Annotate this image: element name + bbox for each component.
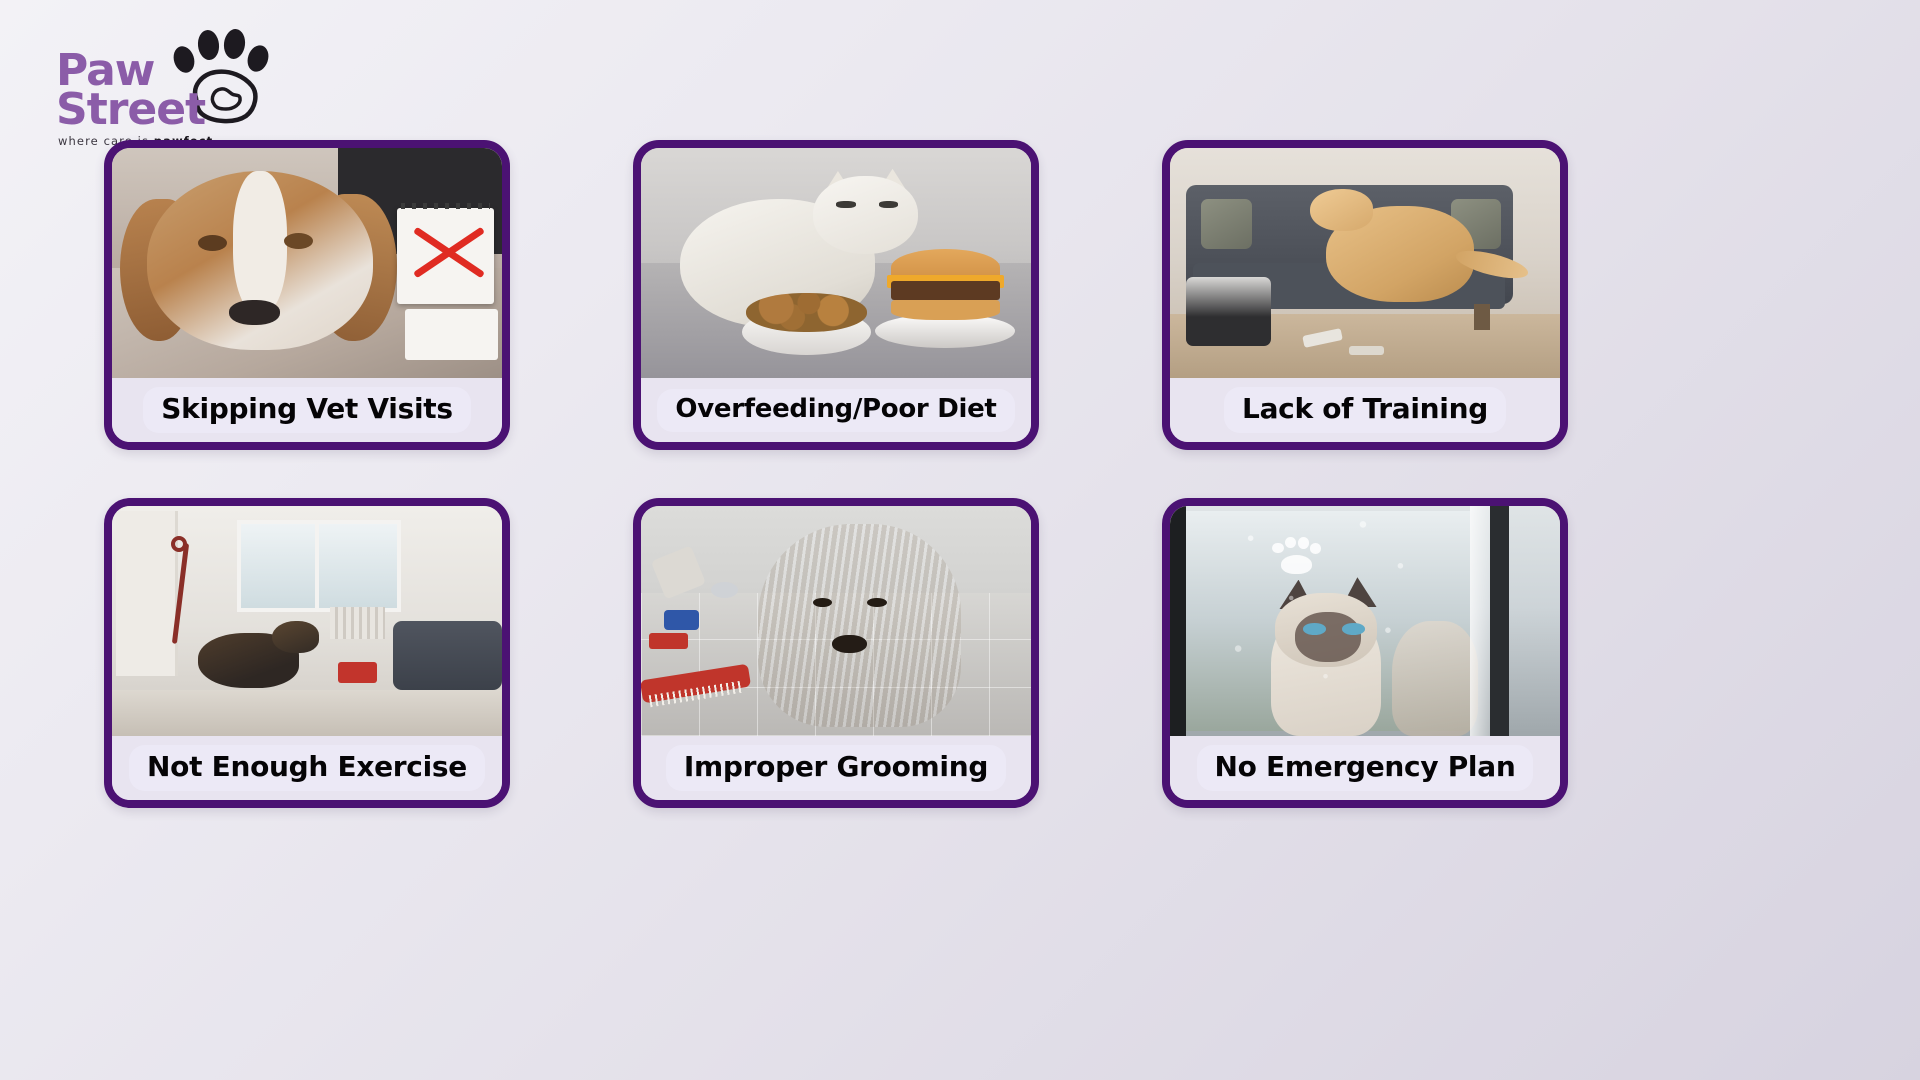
card-image-not-enough-exercise [112, 506, 502, 736]
card-image-lack-of-training [1170, 148, 1560, 378]
card-caption-no-emergency-plan: No Emergency Plan [1170, 736, 1560, 800]
paw-print-on-glass-icon [1271, 536, 1322, 577]
card-caption-skipping-vet-visits: Skipping Vet Visits [112, 378, 502, 442]
brand-wordmark: Paw Street [56, 52, 205, 129]
card-caption-lack-of-training: Lack of Training [1170, 378, 1560, 442]
card-not-enough-exercise[interactable]: Not Enough Exercise [104, 498, 510, 808]
card-skipping-vet-visits[interactable]: Skipping Vet Visits [104, 140, 510, 450]
pet-care-mistakes-grid: Skipping Vet Visits Overfeeding/Poor Die… [104, 140, 1816, 808]
card-caption-not-enough-exercise: Not Enough Exercise [112, 736, 502, 800]
card-caption-overfeeding-poor-diet: Overfeeding/Poor Diet [641, 378, 1031, 442]
caption-pill: Skipping Vet Visits [143, 387, 470, 433]
card-lack-of-training[interactable]: Lack of Training [1162, 140, 1568, 450]
card-improper-grooming[interactable]: Improper Grooming [633, 498, 1039, 808]
brand-name-line-2: Street [56, 91, 205, 130]
card-label: Skipping Vet Visits [161, 392, 452, 425]
card-no-emergency-plan[interactable]: No Emergency Plan [1162, 498, 1568, 808]
card-image-improper-grooming [641, 506, 1031, 736]
card-label: Overfeeding/Poor Diet [675, 394, 996, 424]
card-label: Lack of Training [1242, 392, 1488, 425]
caption-pill: Overfeeding/Poor Diet [657, 389, 1014, 432]
brand-logo[interactable]: Paw Street where care is pawfect [52, 22, 282, 152]
caption-pill: Lack of Training [1224, 387, 1506, 433]
caption-pill: Not Enough Exercise [129, 745, 485, 791]
caption-pill: No Emergency Plan [1197, 745, 1534, 791]
card-label: Improper Grooming [684, 750, 988, 783]
card-image-no-emergency-plan [1170, 506, 1560, 736]
caption-pill: Improper Grooming [666, 745, 1006, 791]
card-caption-improper-grooming: Improper Grooming [641, 736, 1031, 800]
card-overfeeding-poor-diet[interactable]: Overfeeding/Poor Diet [633, 140, 1039, 450]
card-image-overfeeding-poor-diet [641, 148, 1031, 378]
card-label: No Emergency Plan [1215, 750, 1516, 783]
card-label: Not Enough Exercise [147, 750, 467, 783]
card-image-skipping-vet-visits [112, 148, 502, 378]
paw-toe-3 [222, 28, 246, 60]
